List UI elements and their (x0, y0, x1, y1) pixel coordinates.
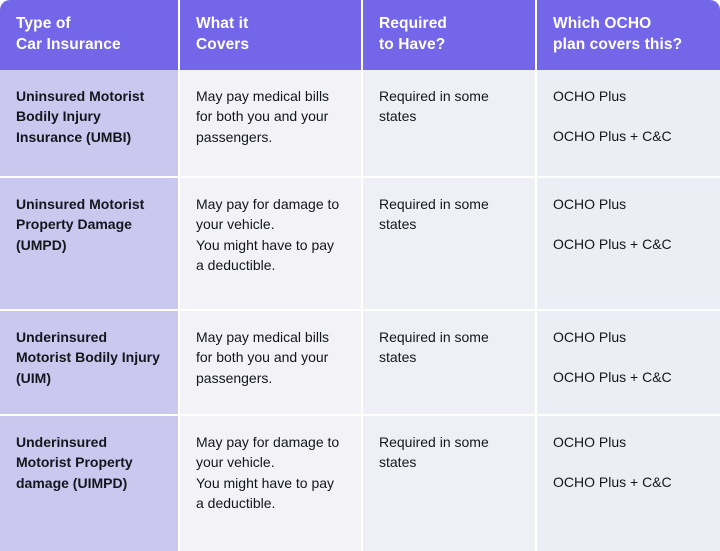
cell-required-to-have: Required in some states (362, 310, 536, 415)
column-header-covers-line2: Covers (196, 35, 345, 55)
column-header-plan: Which OCHO plan covers this? (536, 0, 720, 70)
plan-name: OCHO Plus (553, 194, 704, 214)
column-header-covers-line1: What it (196, 14, 345, 34)
cell-required-to-have: Required in some states (362, 177, 536, 310)
plan-name: OCHO Plus + C&C (553, 367, 704, 387)
plan-name: OCHO Plus (553, 432, 704, 452)
table-body: Uninsured Motorist Bodily Injury Insuran… (0, 70, 720, 551)
cell-ocho-plan: OCHO Plus OCHO Plus + C&C (536, 70, 720, 177)
covers-line: May pay medical bills for both you and y… (196, 327, 345, 388)
header-row: Type of Car Insurance What it Covers Req… (0, 0, 720, 70)
plan-name: OCHO Plus (553, 327, 704, 347)
table-row: Uninsured Motorist Bodily Injury Insuran… (0, 70, 720, 177)
column-header-required-line2: to Have? (379, 35, 519, 55)
covers-line: May pay for damage to your vehicle. (196, 194, 345, 235)
plan-name: OCHO Plus + C&C (553, 472, 704, 492)
cell-ocho-plan: OCHO Plus OCHO Plus + C&C (536, 310, 720, 415)
cell-insurance-type: Uninsured Motorist Property Damage (UMPD… (0, 177, 179, 310)
cell-what-it-covers: May pay for damage to your vehicle. You … (179, 415, 362, 551)
cell-what-it-covers: May pay for damage to your vehicle. You … (179, 177, 362, 310)
cell-insurance-type: Underinsured Motorist Property damage (U… (0, 415, 179, 551)
column-header-type: Type of Car Insurance (0, 0, 179, 70)
cell-required-to-have: Required in some states (362, 415, 536, 551)
table-row: Underinsured Motorist Bodily Injury (UIM… (0, 310, 720, 415)
plan-name: OCHO Plus + C&C (553, 126, 704, 146)
covers-line: May pay for damage to your vehicle. (196, 432, 345, 473)
column-header-covers: What it Covers (179, 0, 362, 70)
insurance-comparison-table: Type of Car Insurance What it Covers Req… (0, 0, 720, 551)
cell-what-it-covers: May pay medical bills for both you and y… (179, 70, 362, 177)
column-header-type-line2: Car Insurance (16, 35, 162, 55)
column-header-required-line1: Required (379, 14, 519, 34)
plan-name: OCHO Plus + C&C (553, 234, 704, 254)
covers-line: You might have to pay a deductible. (196, 235, 345, 276)
table-header: Type of Car Insurance What it Covers Req… (0, 0, 720, 70)
column-header-required: Required to Have? (362, 0, 536, 70)
comparison-table: Type of Car Insurance What it Covers Req… (0, 0, 720, 551)
table-row: Uninsured Motorist Property Damage (UMPD… (0, 177, 720, 310)
cell-insurance-type: Uninsured Motorist Bodily Injury Insuran… (0, 70, 179, 177)
cell-what-it-covers: May pay medical bills for both you and y… (179, 310, 362, 415)
column-header-plan-line2: plan covers this? (553, 35, 704, 55)
cell-ocho-plan: OCHO Plus OCHO Plus + C&C (536, 177, 720, 310)
covers-line: You might have to pay a deductible. (196, 473, 345, 514)
column-header-plan-line1: Which OCHO (553, 14, 704, 34)
table-row: Underinsured Motorist Property damage (U… (0, 415, 720, 551)
covers-line: May pay medical bills for both you and y… (196, 86, 345, 147)
cell-insurance-type: Underinsured Motorist Bodily Injury (UIM… (0, 310, 179, 415)
cell-required-to-have: Required in some states (362, 70, 536, 177)
column-header-type-line1: Type of (16, 14, 162, 34)
cell-ocho-plan: OCHO Plus OCHO Plus + C&C (536, 415, 720, 551)
plan-name: OCHO Plus (553, 86, 704, 106)
